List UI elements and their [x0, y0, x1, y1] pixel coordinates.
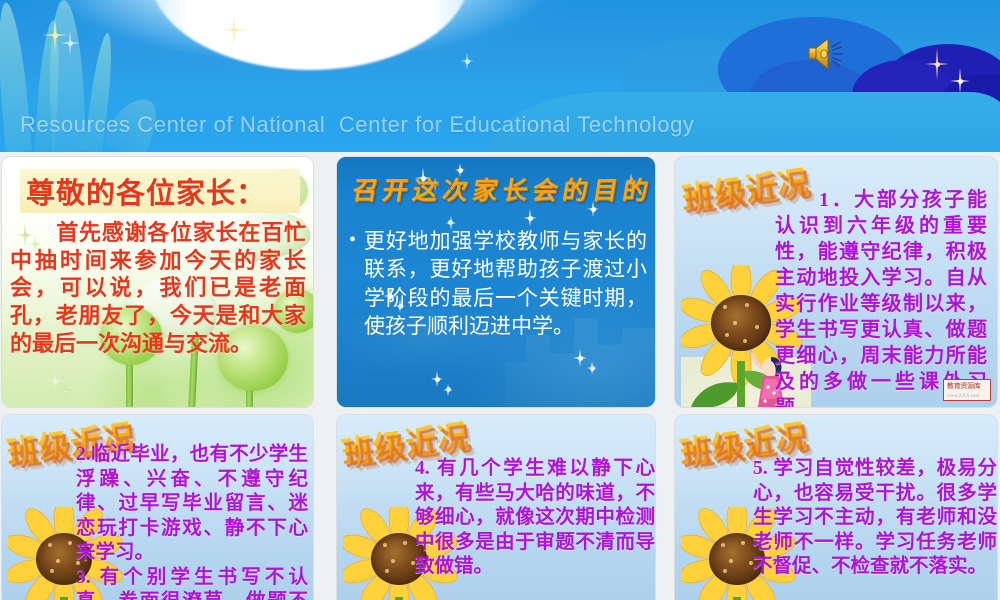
speaker-sound-icon[interactable] [806, 34, 852, 74]
slide-class-status-1-body: 1．大部分孩子能认识到六年级的重要性，能遵守纪律，积极主动地投入学习。自从实行作… [775, 187, 987, 407]
slide-greeting-title-band: 尊敬的各位家长： [20, 169, 300, 213]
slide-class-status-3[interactable]: 班级近况 [337, 415, 655, 600]
slide-thumbnail-page: Resources Center of National Center for … [0, 0, 1000, 600]
watermark-text: 教育资源库 [947, 381, 988, 391]
slide-greeting[interactable]: 尊敬的各位家长： 首先感谢各位家长在百忙中抽时间来参加今天的家长会，可以说，我们… [2, 157, 313, 407]
slide-class-status-4[interactable]: 班级近况 [675, 415, 997, 600]
sparkle-icon [460, 52, 474, 70]
slide-purpose-body-text: 更好地加强学校教师与家长的联系，更好地帮助孩子渡过小学阶段的最后一个关键时期，使… [364, 227, 647, 340]
paragraph: 5. 学习自觉性较差，极易分心，也容易受干扰。很多学生学习不主动，有老师和没老师… [753, 457, 997, 580]
paragraph: 2.临近毕业，也有不少学生浮躁、兴奋、不遵守纪律、过早写毕业留言、迷恋玩打卡游戏… [76, 443, 308, 566]
sparkle-icon [46, 369, 64, 393]
sparkle-icon [523, 209, 537, 227]
moon-glow-icon [150, 0, 470, 70]
resource-watermark-logo: 教育资源库 www.XXX.com [943, 379, 991, 401]
slide-purpose[interactable]: 召开这次家长会的目的： • 更好地加强学校教师与家长的联系，更好地帮助孩子渡过小… [337, 157, 655, 407]
sparkle-icon [58, 381, 72, 399]
sparkle-icon [443, 383, 453, 396]
bullet-marker: • [349, 227, 361, 340]
slide-purpose-title: 召开这次家长会的目的： [350, 171, 648, 207]
slide-class-status-1[interactable]: 班级近况 [675, 157, 997, 407]
slide-class-status-2-body: 2.临近毕业，也有不少学生浮躁、兴奋、不遵守纪律、过早写毕业留言、迷恋玩打卡游戏… [76, 443, 308, 600]
slide-greeting-body: 首先感谢各位家长在百忙中抽时间来参加今天的家长会，可以说，我们已是老面孔，老朋友… [10, 219, 306, 358]
slide-class-status-2[interactable]: 班级近况 [2, 415, 313, 600]
banner-caption: Resources Center of National Center for … [20, 112, 695, 138]
paragraph: 3. 有个别学生书写不认真，卷面很潦草，做题不肯动脑筋；遇到难题是左抄右问， [76, 566, 308, 600]
paragraph: 4. 有几个学生难以静下心来，有些马大哈的味道，不够细心，就像这次期中检测中很多… [415, 457, 655, 580]
slide-greeting-title: 尊敬的各位家长： [26, 170, 266, 212]
slide-purpose-body: • 更好地加强学校教师与家长的联系，更好地帮助孩子渡过小学阶段的最后一个关键时期… [349, 227, 647, 340]
slide-class-status-3-body: 4. 有几个学生难以静下心来，有些马大哈的味道，不够细心，就像这次期中检测中很多… [415, 457, 655, 580]
slide-grid: 尊敬的各位家长： 首先感谢各位家长在百忙中抽时间来参加今天的家长会，可以说，我们… [0, 154, 1000, 600]
header-banner: Resources Center of National Center for … [0, 0, 1000, 152]
slide-class-status-4-body: 5. 学习自觉性较差，极易分心，也容易受干扰。很多学生学习不主动，有老师和没老师… [753, 457, 997, 580]
watermark-sub: www.XXX.com [947, 394, 979, 399]
